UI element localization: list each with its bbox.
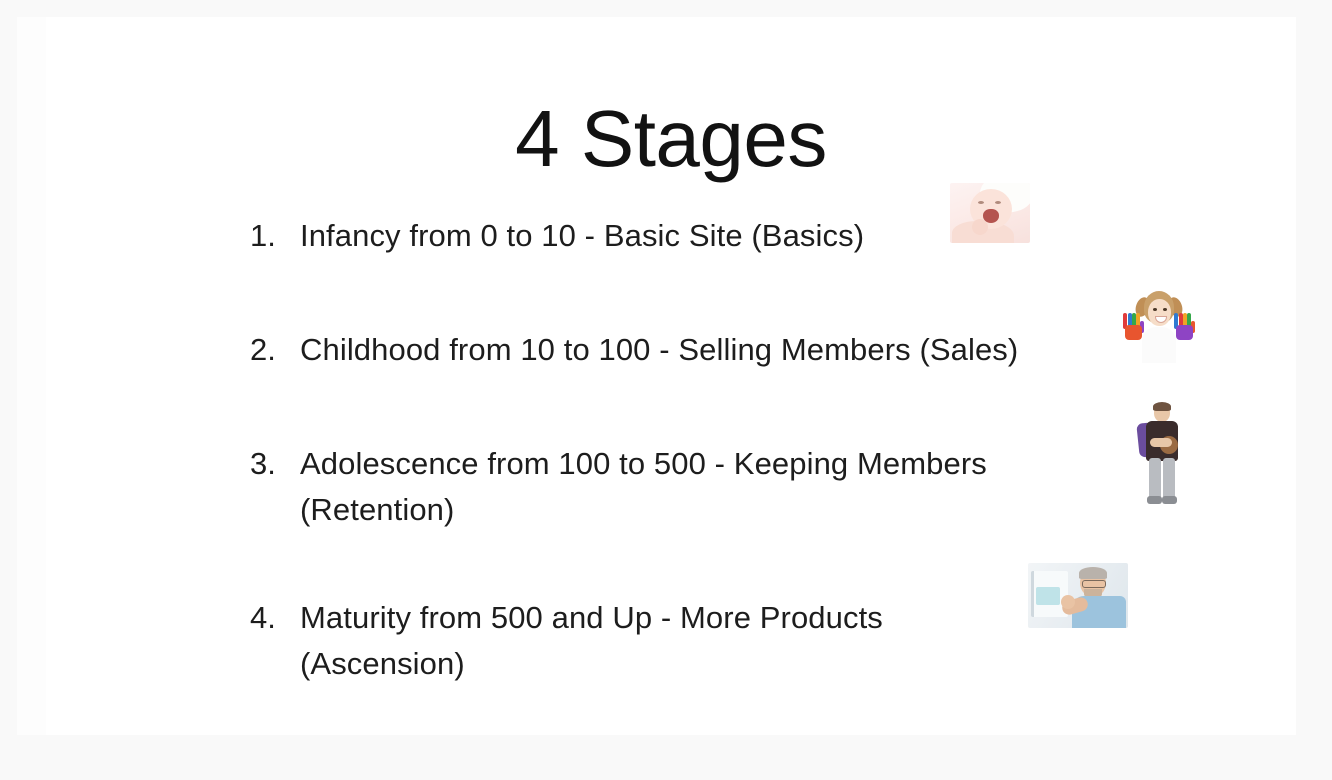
- list-item: 2. Childhood from 10 to 100 - Selling Me…: [250, 327, 1260, 379]
- list-item-text: Childhood from 10 to 100 - Selling Membe…: [300, 332, 1018, 367]
- stages-ordered-list: 1. Infancy from 0 to 10 - Basic Site (Ba…: [250, 213, 1260, 687]
- page-title: 4 Stages: [46, 99, 1296, 179]
- slide-viewport: 4 Stages 1. Infancy from 0 to 10 - Basic…: [0, 0, 1332, 780]
- list-item-body: Infancy from 0 to 10 - Basic Site (Basic…: [300, 213, 1260, 259]
- list-item-text-block: Infancy from 0 to 10 - Basic Site (Basic…: [300, 213, 1040, 259]
- baby-photo: [950, 183, 1030, 243]
- list-item-number: 1.: [250, 213, 290, 259]
- list-item-number: 4.: [250, 595, 290, 641]
- list-item-text: Infancy from 0 to 10 - Basic Site (Basic…: [300, 218, 864, 253]
- presentation-slide: 4 Stages 1. Infancy from 0 to 10 - Basic…: [46, 17, 1296, 735]
- list-item-number: 2.: [250, 327, 290, 373]
- list-item-body: Childhood from 10 to 100 - Selling Membe…: [300, 327, 1260, 373]
- list-item: 1. Infancy from 0 to 10 - Basic Site (Ba…: [250, 213, 1260, 265]
- list-item-text-block: Maturity from 500 and Up - More Products…: [300, 595, 1040, 687]
- list-item-body: Adolescence from 100 to 500 - Keeping Me…: [300, 441, 1260, 533]
- list-item-text-block: Adolescence from 100 to 500 - Keeping Me…: [300, 441, 1040, 533]
- list-item-body: Maturity from 500 and Up - More Products…: [300, 595, 1260, 687]
- teen-with-backpack-photo: [1130, 396, 1192, 508]
- list-item-text: Maturity from 500 and Up - More Products…: [300, 600, 883, 681]
- list-item: 3. Adolescence from 100 to 500 - Keeping…: [250, 441, 1260, 533]
- girl-painted-hands-photo: [1118, 287, 1198, 365]
- list-item-number: 3.: [250, 441, 290, 487]
- list-item-text: Adolescence from 100 to 500 - Keeping Me…: [300, 446, 987, 527]
- man-at-computer-photo: [1028, 563, 1128, 628]
- list-item-text-block: Childhood from 10 to 100 - Selling Membe…: [300, 327, 1040, 373]
- list-item: 4. Maturity from 500 and Up - More Produ…: [250, 595, 1260, 687]
